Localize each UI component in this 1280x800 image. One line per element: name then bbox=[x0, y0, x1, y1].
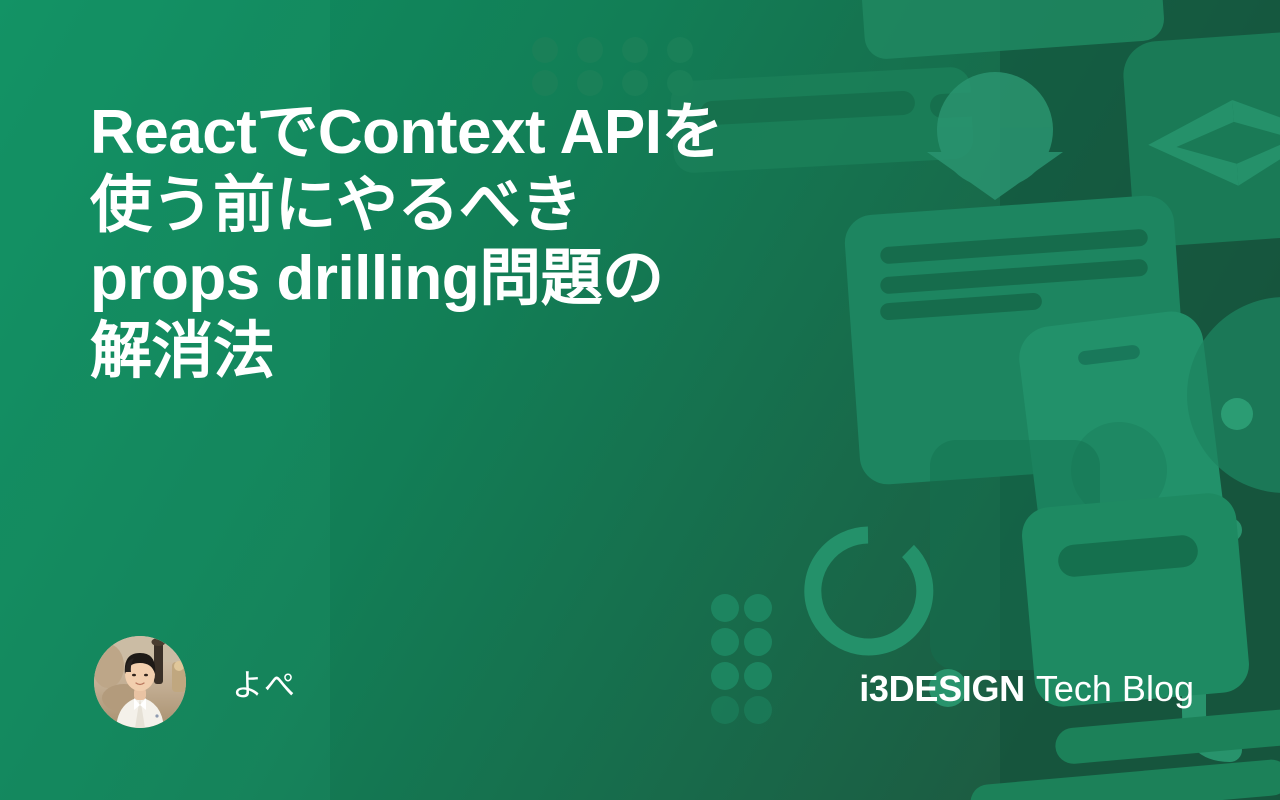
brand-name-light: Tech Blog bbox=[1036, 668, 1194, 710]
title-line-1: ReactでContext APIを bbox=[90, 96, 970, 169]
page-title: ReactでContext APIを 使う前にやるべき props drilli… bbox=[90, 96, 970, 389]
brand-name-bold: i3DESIGN bbox=[859, 668, 1025, 710]
avatar-portrait-image bbox=[94, 636, 186, 728]
title-line-3: props drilling問題の bbox=[90, 242, 970, 315]
author-name: よぺ bbox=[232, 660, 296, 705]
brand-logo: i3DESIGN Tech Blog bbox=[859, 668, 1194, 710]
card-content: ReactでContext APIを 使う前にやるべき props drilli… bbox=[0, 0, 1280, 800]
title-line-4: 解消法 bbox=[90, 315, 970, 388]
title-line-2: 使う前にやるべき bbox=[90, 169, 970, 242]
card-footer: よぺ i3DESIGN Tech Blog bbox=[0, 600, 1280, 800]
avatar bbox=[94, 636, 186, 728]
author-block: よぺ bbox=[94, 636, 296, 728]
og-card-canvas: ReactでContext APIを 使う前にやるべき props drilli… bbox=[0, 0, 1280, 800]
